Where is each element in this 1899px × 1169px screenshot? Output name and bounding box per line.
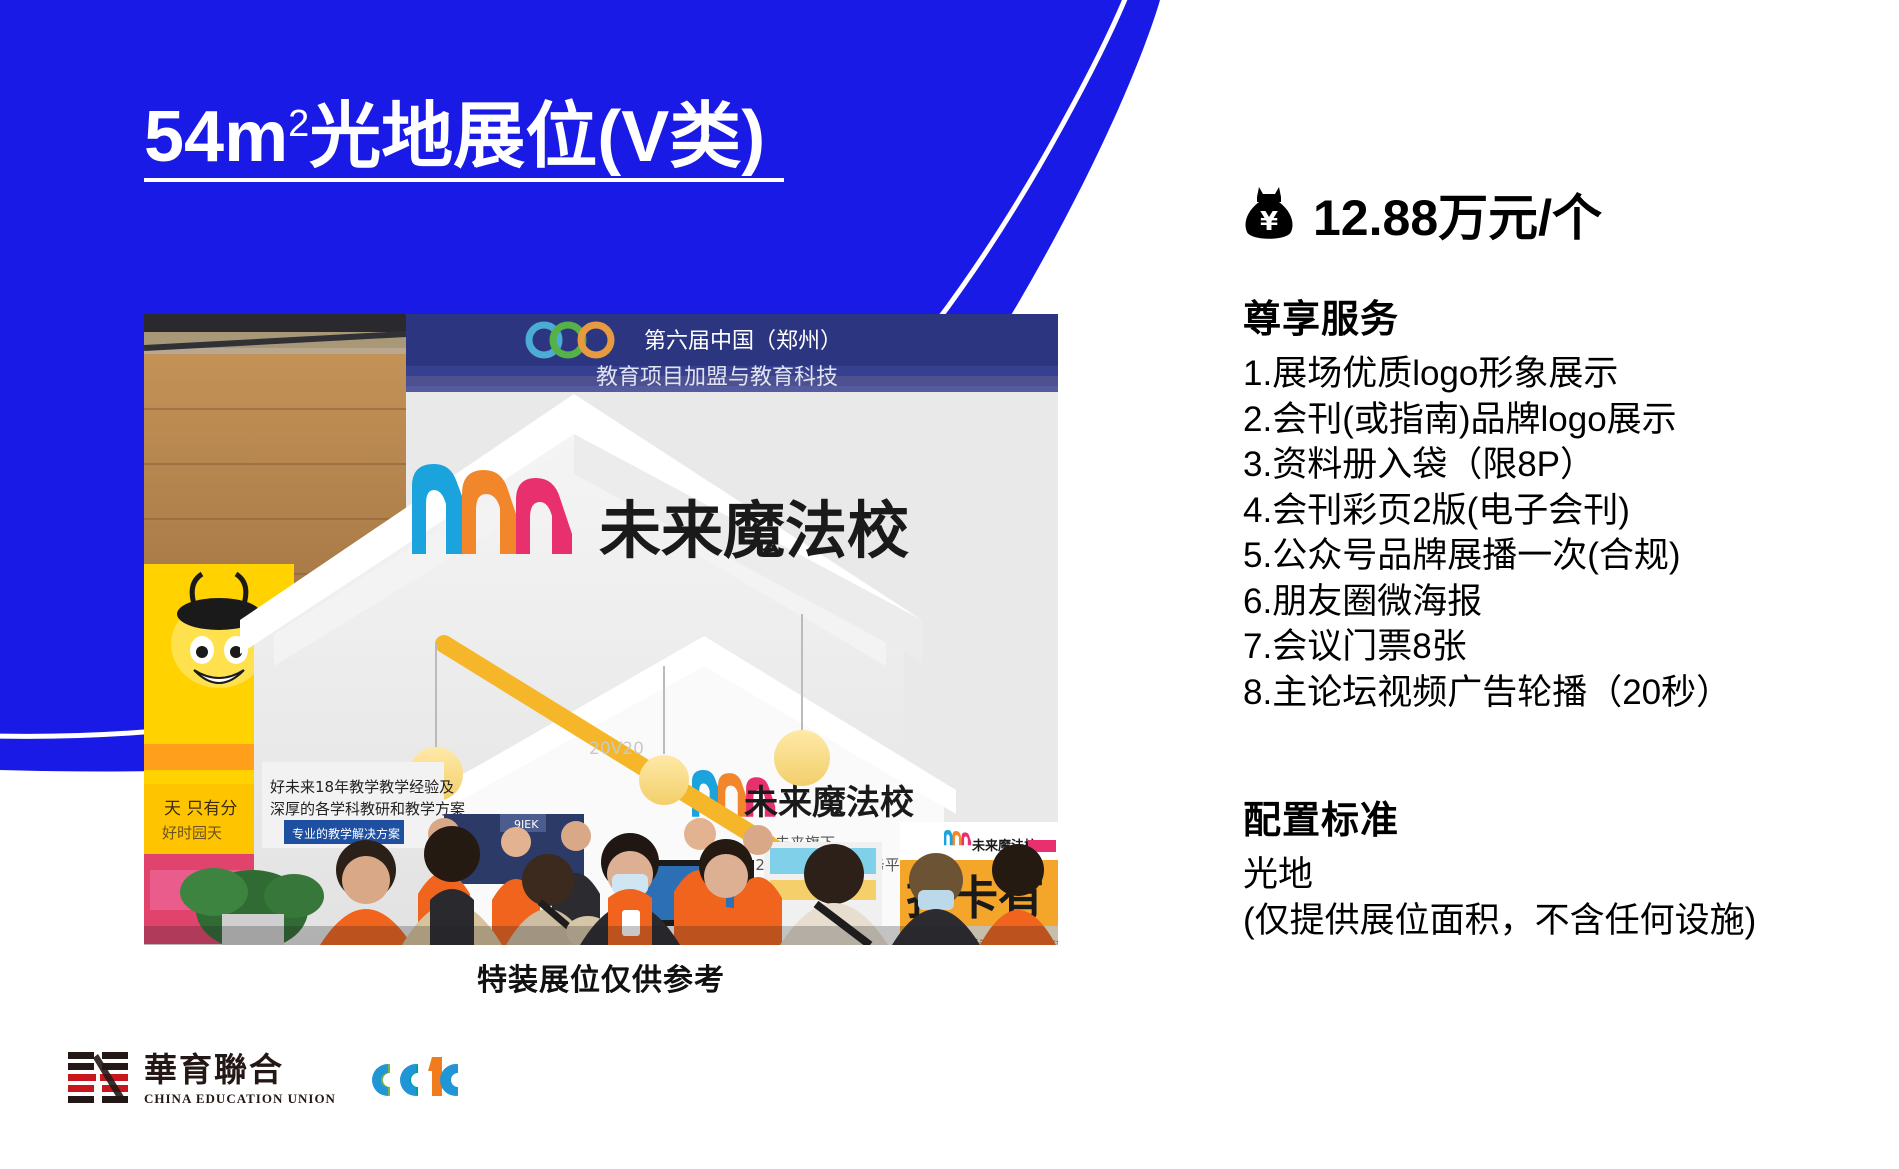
title-unit-superscript: 2	[288, 103, 309, 145]
title-unit: m	[224, 97, 288, 177]
config-section: 配置标准 光地 (仅提供展位面积，不含任何设施)	[1243, 789, 1883, 943]
booth-photo-illustration: 第六届中国（郑州） 教育项目加盟与教育科技	[144, 314, 1058, 945]
title-area-value: 54	[144, 97, 224, 177]
svg-text:未来魔法校: 未来魔法校	[599, 494, 909, 567]
service-item-6: 6.朋友圈微海报	[1243, 579, 1883, 625]
ceu-text-block: 華育聯合 CHINA EDUCATION UNION	[144, 1053, 336, 1107]
svg-text:教育项目加盟与教育科技: 教育项目加盟与教育科技	[596, 365, 838, 390]
cetc-logo	[362, 1053, 466, 1107]
svg-text:好未来18年教学教学经验及: 好未来18年教学教学经验及	[270, 778, 454, 796]
svg-text:专业的教学解决方案: 专业的教学解决方案	[292, 826, 400, 841]
service-item-8: 8.主论坛视频广告轮播（20秒）	[1243, 670, 1883, 716]
ceu-name-en: CHINA EDUCATION UNION	[144, 1091, 336, 1107]
title-underline	[144, 178, 784, 182]
ceu-trigram-mark-icon	[68, 1050, 132, 1110]
price-row: ¥ 12.88万元/个	[1243, 178, 1883, 250]
details-column: ¥ 12.88万元/个 尊享服务 1.展场优质logo形象展示 2.会刊(或指南…	[1243, 178, 1883, 943]
services-section: 尊享服务 1.展场优质logo形象展示 2.会刊(或指南)品牌logo展示 3.…	[1243, 288, 1883, 715]
china-education-union-logo: 華育聯合 CHINA EDUCATION UNION	[68, 1050, 336, 1110]
booth-photo: 第六届中国（郑州） 教育项目加盟与教育科技	[144, 314, 1058, 945]
svg-text:未来魔法校: 未来魔法校	[744, 783, 914, 823]
svg-text:深厚的各学科教研和教学方案: 深厚的各学科教研和教学方案	[270, 800, 465, 818]
slide-title-block: 54m2光地展位(V类)	[144, 100, 784, 182]
price-value: 12.88万元/个	[1313, 178, 1602, 250]
service-item-2: 2.会刊(或指南)品牌logo展示	[1243, 397, 1883, 443]
page-title: 54m2光地展位(V类)	[144, 100, 784, 176]
svg-text:¥: ¥	[1260, 207, 1278, 237]
service-item-1: 1.展场优质logo形象展示	[1243, 351, 1883, 397]
config-line-2: (仅提供展位面积，不含任何设施)	[1243, 898, 1883, 944]
money-bag-icon: ¥	[1243, 185, 1295, 243]
services-list: 1.展场优质logo形象展示 2.会刊(或指南)品牌logo展示 3.资料册入袋…	[1243, 351, 1883, 715]
service-item-7: 7.会议门票8张	[1243, 624, 1883, 670]
svg-text:20V20: 20V20	[589, 739, 644, 759]
config-heading: 配置标准	[1243, 789, 1883, 844]
photo-caption: 特装展位仅供参考	[144, 955, 1058, 999]
footer-logos: 華育聯合 CHINA EDUCATION UNION	[68, 1050, 466, 1110]
svg-text:天 只有分: 天 只有分	[164, 799, 237, 819]
service-item-4: 4.会刊彩页2版(电子会刊)	[1243, 488, 1883, 534]
title-rest: 光地展位(V类)	[309, 97, 765, 177]
svg-text:第六届中国（郑州）: 第六届中国（郑州）	[644, 329, 842, 354]
service-item-3: 3.资料册入袋（限8P）	[1243, 442, 1883, 488]
config-line-1: 光地	[1243, 852, 1883, 898]
service-item-5: 5.公众号品牌展播一次(合规)	[1243, 533, 1883, 579]
ceu-name-cn: 華育聯合	[144, 1053, 336, 1088]
svg-text:好时园天: 好时园天	[162, 824, 222, 842]
slide-root: 54m2光地展位(V类)	[0, 0, 1899, 1169]
services-heading: 尊享服务	[1243, 288, 1883, 343]
